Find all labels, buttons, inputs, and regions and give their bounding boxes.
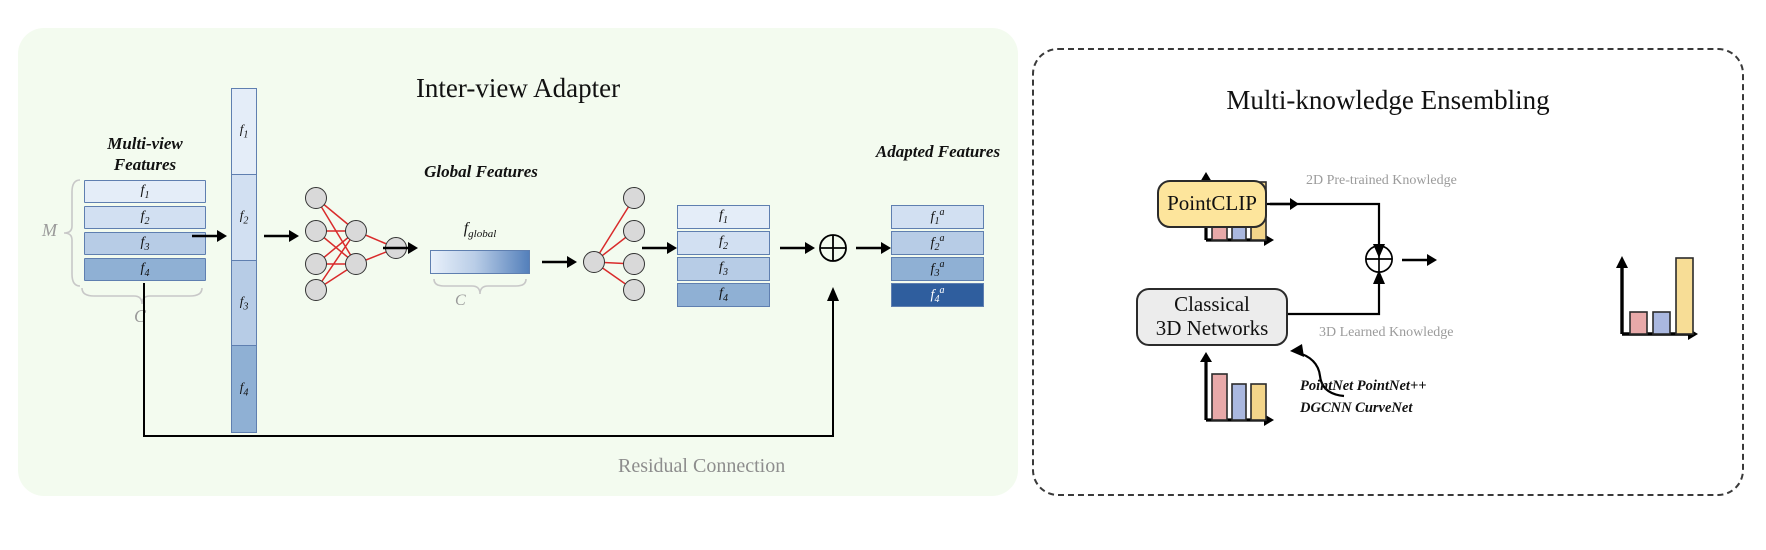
mlp-node xyxy=(305,253,327,275)
adapted-feature-stack: f1a f2a f3a f4a xyxy=(891,205,984,309)
feature-bar-label: f2 xyxy=(85,209,205,227)
classical-label-line2: 3D Networks xyxy=(1156,317,1269,341)
concat-segment-label: f1 xyxy=(232,122,256,141)
arrow-to-sum xyxy=(780,240,816,256)
mlp-node xyxy=(345,253,367,275)
model-names-line1: PointNet PointNet++ xyxy=(1300,375,1426,397)
3d-knowledge-label: 3D Learned Knowledge xyxy=(1319,325,1454,341)
arrow-to-adapted-features xyxy=(856,240,892,256)
residual-connection-path xyxy=(138,283,848,443)
mlp-node xyxy=(623,253,645,275)
concat-segment: f1 xyxy=(232,89,256,175)
adapted-feature-bar-label: f1a xyxy=(892,207,983,227)
global-feature-bar xyxy=(430,250,530,274)
classical-3d-networks-box[interactable]: Classical 3D Networks xyxy=(1136,288,1288,346)
model-names-line2: DGCNN CurveNet xyxy=(1300,397,1426,419)
arrow-to-decoder xyxy=(542,254,578,270)
mlp-node xyxy=(583,251,605,273)
feature-bar-label: f3 xyxy=(85,235,205,253)
feature-bar: f2 xyxy=(677,231,770,255)
feature-bar: f2 xyxy=(84,206,206,229)
multi-view-label-line1: Multi-view xyxy=(80,133,210,154)
feature-bar: f4 xyxy=(84,258,206,281)
arrow-to-global-features xyxy=(383,240,419,256)
right-panel-title: Multi-knowledge Ensembling xyxy=(1032,85,1744,116)
classical-label-line1: Classical xyxy=(1156,293,1269,317)
global-features-label: Global Features xyxy=(386,161,576,182)
adapted-feature-bar: f1a xyxy=(891,205,984,229)
feature-bar-label: f3 xyxy=(678,260,769,278)
adapted-feature-bar: f3a xyxy=(891,257,984,281)
concat-segment: f2 xyxy=(232,175,256,261)
feature-bar-label: f4 xyxy=(85,261,205,279)
input-logits-chart-bottom xyxy=(1192,348,1276,430)
mlp-node xyxy=(305,220,327,242)
mlp-node xyxy=(623,220,645,242)
multi-view-label-line2: Features xyxy=(80,154,210,175)
2d-knowledge-label: 2D Pre-trained Knowledge xyxy=(1306,173,1457,189)
model-name-list: PointNet PointNet++ DGCNN CurveNet xyxy=(1300,375,1426,420)
multi-view-feature-stack: f1 f2 f3 f4 xyxy=(84,180,206,284)
brace-m-label: M xyxy=(42,220,57,241)
output-logits-chart xyxy=(1608,250,1700,346)
adapted-feature-bar: f4a xyxy=(891,283,984,307)
pointclip-box[interactable]: PointCLIP xyxy=(1157,180,1267,228)
multi-view-features-label: Multi-view Features xyxy=(80,133,210,176)
feature-bar: f1 xyxy=(84,180,206,203)
left-panel-title: Inter-view Adapter xyxy=(18,73,1018,104)
feature-bar: f3 xyxy=(84,232,206,255)
mlp-node xyxy=(305,187,327,209)
adapted-feature-bar: f2a xyxy=(891,231,984,255)
feature-bar: f3 xyxy=(677,257,770,281)
feature-bar-label: f1 xyxy=(678,208,769,226)
adapted-feature-bar-label: f4a xyxy=(892,285,983,305)
arrow-to-concat xyxy=(192,228,228,244)
ensemble-sum-operator-icon xyxy=(1364,244,1394,274)
adapted-feature-bar-label: f2a xyxy=(892,233,983,253)
adapted-features-label: Adapted Features xyxy=(823,141,1053,162)
inter-view-adapter-panel: Inter-view Adapter Multi-view Features M… xyxy=(18,28,1018,496)
feature-bar-label: f1 xyxy=(85,183,205,201)
sum-operator-icon xyxy=(818,233,848,263)
pointclip-label: PointCLIP xyxy=(1167,192,1257,216)
arrow-to-encoder xyxy=(264,228,300,244)
feature-bar-label: f2 xyxy=(678,234,769,252)
brace-m xyxy=(62,178,82,288)
f-global-label: fglobal xyxy=(430,220,530,240)
mlp-node xyxy=(623,187,645,209)
mlp-node xyxy=(345,220,367,242)
arrow-to-output-chart xyxy=(1402,252,1438,268)
arrow-to-mid-features xyxy=(642,240,678,256)
feature-bar: f1 xyxy=(677,205,770,229)
adapted-feature-bar-label: f3a xyxy=(892,259,983,279)
concat-segment-label: f2 xyxy=(232,208,256,227)
residual-connection-label: Residual Connection xyxy=(618,455,785,478)
